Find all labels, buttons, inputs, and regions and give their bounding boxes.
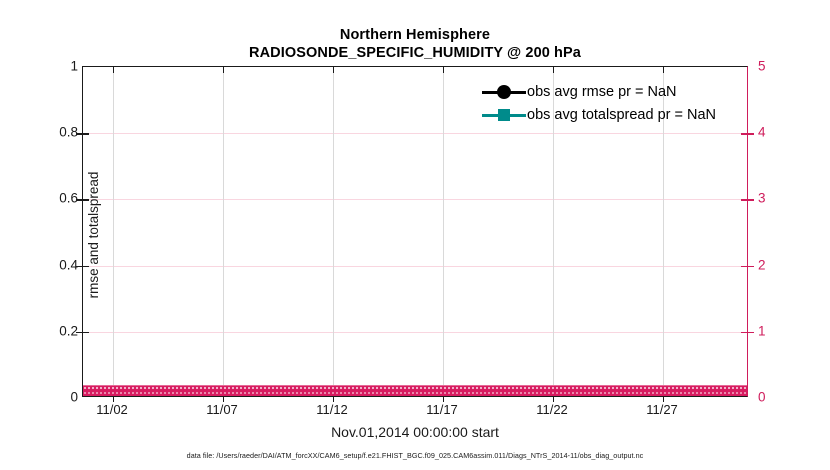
y-axis-label-left-0: 0 <box>70 390 78 405</box>
y-axis-label-left-06: 0.6 <box>59 191 78 206</box>
y-axis-tick-left <box>83 332 89 333</box>
gridline-horizontal <box>83 199 747 200</box>
legend-marker-rmse <box>482 83 526 101</box>
y-axis-label-left-08: 0.8 <box>59 125 78 140</box>
gridline-vertical <box>113 67 114 396</box>
x-axis-tick-top <box>113 67 114 73</box>
y-axis-label-left-1: 1 <box>70 59 78 74</box>
y-axis-label-left-02: 0.2 <box>59 324 78 339</box>
y-axis-tick-right <box>747 266 754 267</box>
x-axis-label-4: 11/17 <box>426 402 458 417</box>
y-axis-tick-right <box>747 133 754 134</box>
x-axis-tick-top <box>663 67 664 73</box>
y-axis-label-right-2: 2 <box>758 258 766 273</box>
square-marker-icon <box>498 109 510 121</box>
obs-count-band-markers <box>83 385 747 396</box>
legend-label-rmse: obs avg rmse pr = NaN <box>526 84 677 100</box>
x-axis-label-1: 11/02 <box>96 402 128 417</box>
chart-legend: obs avg rmse pr = NaN obs avg totalsprea… <box>482 81 742 127</box>
y-axis-title-left: rmse and totalspread <box>86 172 101 299</box>
y-axis-tick-left <box>83 133 89 134</box>
x-axis-label-3: 11/12 <box>316 402 348 417</box>
obs-count-band-highlight <box>83 385 747 386</box>
y-axis-tick-right <box>747 332 754 333</box>
legend-label-totalspread: obs avg totalspread pr = NaN <box>526 107 716 123</box>
gridline-horizontal <box>83 332 747 333</box>
gridline-vertical <box>443 67 444 396</box>
gridline-horizontal <box>83 266 747 267</box>
x-axis-label-2: 11/07 <box>206 402 238 417</box>
y-axis-label-right-5: 5 <box>758 59 766 74</box>
legend-marker-totalspread <box>482 106 526 124</box>
y-axis-label-right-3: 3 <box>758 191 766 206</box>
gridline-horizontal <box>83 133 747 134</box>
legend-item-rmse: obs avg rmse pr = NaN <box>482 81 742 102</box>
chart-subtitle: RADIOSONDE_SPECIFIC_HUMIDITY @ 200 hPa <box>0 44 830 63</box>
x-axis-tick-top <box>443 67 444 73</box>
legend-item-totalspread: obs avg totalspread pr = NaN <box>482 104 742 125</box>
x-axis-tick-top <box>333 67 334 73</box>
data-file-footer: data file: /Users/raeder/DAI/ATM_forcXX/… <box>0 451 830 460</box>
chart-title-block: Northern Hemisphere RADIOSONDE_SPECIFIC_… <box>0 26 830 63</box>
y-axis-tick-right <box>747 199 754 200</box>
gridline-vertical <box>333 67 334 396</box>
circle-marker-icon <box>497 85 511 99</box>
plot-area: obs avg rmse pr = NaN obs avg totalsprea… <box>82 66 748 397</box>
page-title: Northern Hemisphere <box>0 26 830 44</box>
y-axis-label-right-0: 0 <box>758 390 766 405</box>
x-axis-tick-top <box>553 67 554 73</box>
obs-count-marker-band <box>83 385 747 396</box>
y-axis-label-right-1: 1 <box>758 324 766 339</box>
x-axis-label-6: 11/27 <box>646 402 678 417</box>
x-axis-tick-top <box>223 67 224 73</box>
gridline-vertical <box>223 67 224 396</box>
y-axis-label-left-04: 0.4 <box>59 258 78 273</box>
x-axis-label-5: 11/22 <box>536 402 568 417</box>
y-axis-label-right-4: 4 <box>758 125 766 140</box>
x-axis-title: Nov.01,2014 00:00:00 start <box>0 424 830 440</box>
